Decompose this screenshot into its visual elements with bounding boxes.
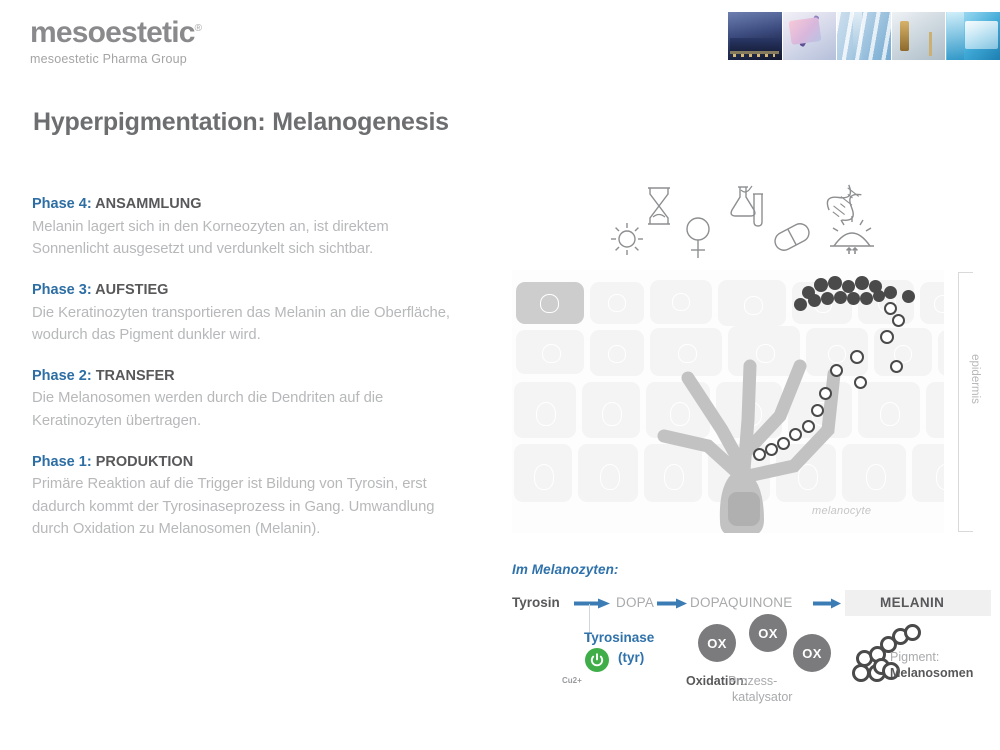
registered-trademark-icon: ® xyxy=(195,23,202,34)
phase-item-2: Phase 2: TRANSFER Die Melanosomen werden… xyxy=(32,367,462,432)
photo-tile-building-night xyxy=(728,12,782,60)
melanocyte-label: melanocyte xyxy=(812,505,871,517)
photo-tile-lab-pipette xyxy=(783,12,837,60)
melanosome-ring xyxy=(884,302,897,315)
melanosome-ring xyxy=(830,364,843,377)
phase-name: TRANSFER xyxy=(96,368,175,384)
lab-photo-strip xyxy=(728,12,1000,60)
phase-heading: Phase 1: PRODUKTION xyxy=(32,453,462,473)
melanin-granule xyxy=(847,292,860,305)
melanin-granule xyxy=(860,292,873,305)
brand-logo: mesoestetic® mesoestetic Pharma Group xyxy=(30,18,201,66)
pathway-arrow-1 xyxy=(574,598,610,608)
oxidation-bubble-1: OX xyxy=(698,624,736,662)
melanosome-ring xyxy=(819,387,832,400)
phase-description: Melanin lagert sich in den Korneozyten a… xyxy=(32,216,462,260)
phase-list: Phase 4: ANSAMMLUNG Melanin lagert sich … xyxy=(32,195,462,540)
phase-number: Phase 4: xyxy=(32,196,92,212)
melanosome-ring xyxy=(850,350,864,364)
melanosome-ring xyxy=(892,314,905,327)
phase-number: Phase 2: xyxy=(32,368,92,384)
melanosome-ring xyxy=(880,330,894,344)
pathway-arrow-3 xyxy=(813,598,841,608)
power-icon-badge xyxy=(585,648,609,672)
phase-number: Phase 1: xyxy=(32,454,92,470)
trigger-icon-row xyxy=(600,180,900,260)
oxidation-bubble-2: OX xyxy=(749,614,787,652)
photo-tile-gold-instruments xyxy=(892,12,946,60)
oxidation-caption-rest: Prozess- xyxy=(728,674,777,688)
phase-description: Die Keratinozyten transportieren das Mel… xyxy=(32,302,462,346)
melanocyte-cell xyxy=(512,270,944,533)
melanin-granule xyxy=(902,290,915,303)
oxidation-caption-line2: katalysator xyxy=(732,690,792,704)
melanin-granule xyxy=(794,298,807,311)
melanin-granule xyxy=(884,286,897,299)
melanosome-ring xyxy=(753,448,766,461)
melanin-granule xyxy=(814,278,828,292)
pathway-arrow-2 xyxy=(657,598,687,608)
melanin-granule xyxy=(834,291,847,304)
phase-item-3: Phase 3: AUFSTIEG Die Keratinozyten tran… xyxy=(32,281,462,346)
logo-main-text: mesoestetic xyxy=(30,16,195,49)
sunrise-heat-icon xyxy=(828,214,876,256)
phase-heading: Phase 4: ANSAMMLUNG xyxy=(32,195,462,215)
pathway-step-dopa: DOPA xyxy=(616,595,654,610)
pathway-step-melanin: MELANIN xyxy=(880,595,944,610)
phase-item-1: Phase 1: PRODUKTION Primäre Reaktion auf… xyxy=(32,453,462,540)
phase-description: Die Melanosomen werden durch die Dendrit… xyxy=(32,387,462,431)
slide: mesoestetic® mesoestetic Pharma Group Hy… xyxy=(0,0,1000,750)
melanosome-ring xyxy=(789,428,802,441)
ox-label: OX xyxy=(802,646,821,661)
pigment-granule xyxy=(904,624,921,641)
phase-description: Primäre Reaktion auf die Trigger ist Bil… xyxy=(32,473,462,540)
skin-cross-section-diagram: melanocyte xyxy=(512,270,944,533)
pathway-step-dopaquinone: DOPAQUINONE xyxy=(690,595,792,610)
epidermis-label: epidermis xyxy=(969,354,981,404)
pigment-caption-line2: Melanosomen xyxy=(890,666,973,680)
logo-wordmark: mesoestetic® xyxy=(30,18,201,48)
phase-number: Phase 3: xyxy=(32,282,92,298)
phase-name: PRODUKTION xyxy=(96,454,193,470)
melanosome-ring xyxy=(811,404,824,417)
photo-tile-glass-tubes xyxy=(837,12,891,60)
melanin-granule xyxy=(821,292,834,305)
melanosome-ring xyxy=(890,360,903,373)
enzyme-name-label: Tyrosinase xyxy=(584,630,654,645)
logo-tagline: mesoestetic Pharma Group xyxy=(30,52,201,66)
flask-testtube-icon xyxy=(728,184,766,230)
ox-label: OX xyxy=(707,636,726,651)
pigment-caption-line1: Pigment: xyxy=(890,650,939,664)
cofactor-label: Cu2+ xyxy=(562,676,582,685)
venus-female-icon xyxy=(682,216,714,260)
sun-icon xyxy=(610,222,644,256)
hourglass-icon xyxy=(644,186,674,226)
melanosome-ring xyxy=(765,443,778,456)
melanosome-ring xyxy=(777,437,790,450)
page-title: Hyperpigmentation: Melanogenesis xyxy=(33,108,449,137)
phase-name: AUFSTIEG xyxy=(95,282,168,298)
oxidation-bubble-3: OX xyxy=(793,634,831,672)
melanosome-ring xyxy=(802,420,815,433)
phase-item-4: Phase 4: ANSAMMLUNG Melanin lagert sich … xyxy=(32,195,462,260)
phase-name: ANSAMMLUNG xyxy=(95,196,201,212)
enzyme-abbr-label: (tyr) xyxy=(618,650,644,665)
pill-capsule-icon xyxy=(770,222,814,252)
melanin-granule xyxy=(828,276,842,290)
phase-heading: Phase 3: AUFSTIEG xyxy=(32,281,462,301)
melanosome-ring xyxy=(854,376,867,389)
pathway-section-label: Im Melanozyten: xyxy=(512,562,619,577)
ox-label: OX xyxy=(758,626,777,641)
melanogenesis-pathway-diagram: Im Melanozyten: Tyrosin DOPA DOPAQUINONE… xyxy=(512,562,992,750)
pathway-step-tyrosin: Tyrosin xyxy=(512,595,560,610)
photo-tile-blue-lab-room xyxy=(946,12,1000,60)
melanin-granule xyxy=(855,276,869,290)
melanin-granule xyxy=(808,294,821,307)
phase-heading: Phase 2: TRANSFER xyxy=(32,367,462,387)
power-icon xyxy=(590,653,604,667)
